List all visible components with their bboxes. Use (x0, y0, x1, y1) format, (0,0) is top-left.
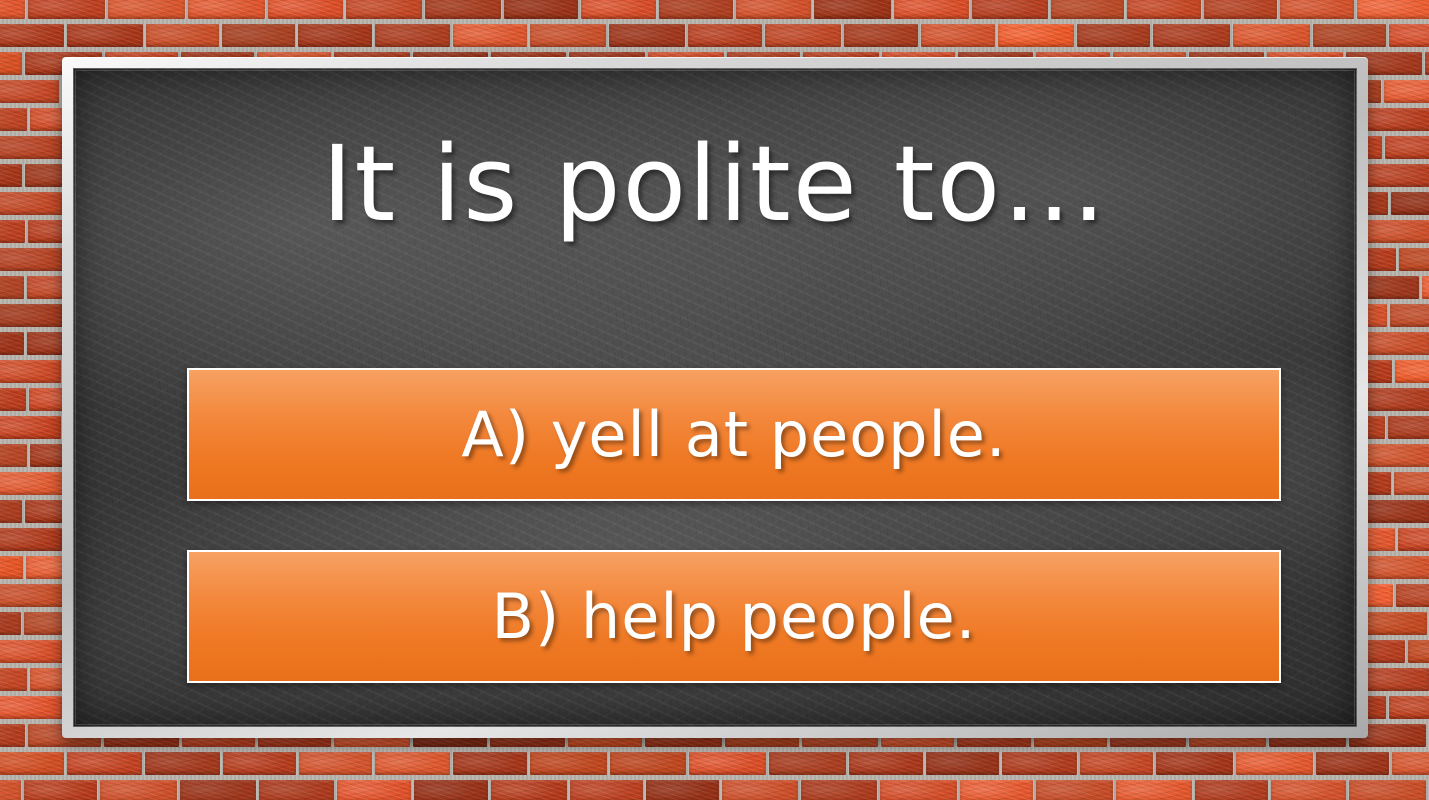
chalkboard-surface: It is polite to… A) yell at people. B) h… (73, 68, 1357, 727)
brick (1316, 752, 1389, 775)
brick (1360, 444, 1429, 467)
slide-title: It is polite to… (73, 130, 1357, 239)
brick (1153, 24, 1230, 47)
brick (67, 752, 142, 775)
brick (1236, 752, 1313, 775)
brick (0, 80, 59, 103)
brick (689, 752, 766, 775)
brick (570, 780, 643, 800)
brick (1127, 0, 1201, 19)
brick (646, 780, 719, 800)
brick (453, 752, 527, 775)
brick (972, 0, 1048, 19)
brick (530, 752, 607, 775)
brick (849, 752, 923, 775)
brick (1388, 416, 1429, 439)
brick (375, 24, 450, 47)
brick (346, 0, 422, 19)
brick (100, 780, 177, 800)
brick (1425, 52, 1429, 75)
brick (0, 192, 63, 215)
brick (1390, 304, 1429, 327)
brick (0, 668, 27, 691)
brick (0, 24, 64, 47)
brick (1389, 24, 1429, 47)
brick (1036, 780, 1113, 800)
brick (1391, 192, 1429, 215)
brick (1385, 136, 1429, 159)
brick (1204, 0, 1277, 19)
brick (180, 780, 256, 800)
brick (1384, 80, 1429, 103)
brick (0, 612, 21, 635)
brick (880, 780, 957, 800)
brick (1362, 164, 1429, 187)
brick (1398, 528, 1429, 551)
brick-row (0, 778, 1429, 800)
brick (921, 24, 995, 47)
brick (609, 24, 685, 47)
brick (1358, 108, 1429, 131)
answer-option-a-label: A) yell at people. (461, 398, 1006, 471)
brick (299, 752, 372, 775)
brick (24, 780, 97, 800)
brick (1408, 640, 1429, 663)
brick-row (0, 22, 1429, 50)
brick (736, 0, 811, 19)
brick (1392, 752, 1429, 775)
brick (1116, 780, 1192, 800)
brick (1395, 360, 1429, 383)
brick (1396, 584, 1429, 607)
brick (425, 0, 501, 19)
brick (188, 0, 265, 19)
brick (814, 0, 891, 19)
brick (1364, 220, 1429, 243)
brick (0, 416, 61, 439)
brick (1002, 752, 1077, 775)
brick (1399, 248, 1429, 271)
brick (926, 752, 999, 775)
brick (0, 528, 62, 551)
brick (0, 640, 63, 663)
brick (453, 24, 527, 47)
brick (801, 780, 877, 800)
brick (0, 556, 23, 579)
brick (146, 24, 219, 47)
brick (268, 0, 343, 19)
brick (610, 752, 686, 775)
brick (0, 500, 22, 523)
brick (0, 304, 64, 327)
brick (688, 24, 762, 47)
brick (1389, 696, 1429, 719)
brick (504, 0, 578, 19)
brick (1051, 0, 1124, 19)
brick (0, 444, 27, 467)
brick (0, 780, 21, 800)
brick (337, 780, 411, 800)
brick (145, 752, 220, 775)
brick (0, 388, 26, 411)
brick-row (0, 0, 1429, 22)
brick (1271, 780, 1346, 800)
brick (1233, 24, 1310, 47)
brick (722, 780, 798, 800)
brick (0, 0, 25, 19)
brick (222, 24, 295, 47)
brick (1077, 24, 1150, 47)
brick (1195, 780, 1268, 800)
brick (414, 780, 488, 800)
brick (1313, 24, 1386, 47)
brick (28, 0, 105, 19)
answer-options-list: A) yell at people. B) help people. (187, 368, 1281, 683)
answer-option-b-label: B) help people. (491, 580, 976, 653)
brick (765, 24, 841, 47)
brick (0, 276, 24, 299)
brick (894, 0, 969, 19)
brick (0, 108, 27, 131)
brick (1156, 752, 1233, 775)
brick (259, 780, 334, 800)
chalkboard-frame: It is polite to… A) yell at people. B) h… (62, 57, 1368, 738)
brick (375, 752, 450, 775)
brick (108, 0, 185, 19)
brick (0, 52, 22, 75)
brick (998, 24, 1074, 47)
answer-option-a[interactable]: A) yell at people. (187, 368, 1281, 501)
brick (67, 24, 143, 47)
brick (491, 780, 567, 800)
brick (1280, 0, 1354, 19)
brick (1394, 472, 1429, 495)
brick (0, 696, 62, 719)
brick (659, 0, 733, 19)
brick (298, 24, 372, 47)
answer-option-b[interactable]: B) help people. (187, 550, 1281, 683)
brick (0, 136, 63, 159)
brick (844, 24, 918, 47)
brick (960, 780, 1033, 800)
brick (530, 24, 606, 47)
brick (581, 0, 656, 19)
brick (0, 248, 64, 271)
brick (769, 752, 846, 775)
brick (1358, 556, 1429, 579)
brick (0, 752, 64, 775)
brick (0, 220, 25, 243)
brick-row (0, 750, 1429, 778)
brick (1357, 0, 1429, 19)
brick (0, 164, 22, 187)
brick (0, 360, 61, 383)
brick (0, 724, 25, 747)
brick (0, 472, 65, 495)
brick (0, 584, 66, 607)
brick (1349, 780, 1426, 800)
brick (0, 332, 24, 355)
brick (223, 752, 296, 775)
brick (1422, 276, 1429, 299)
brick (1080, 752, 1153, 775)
